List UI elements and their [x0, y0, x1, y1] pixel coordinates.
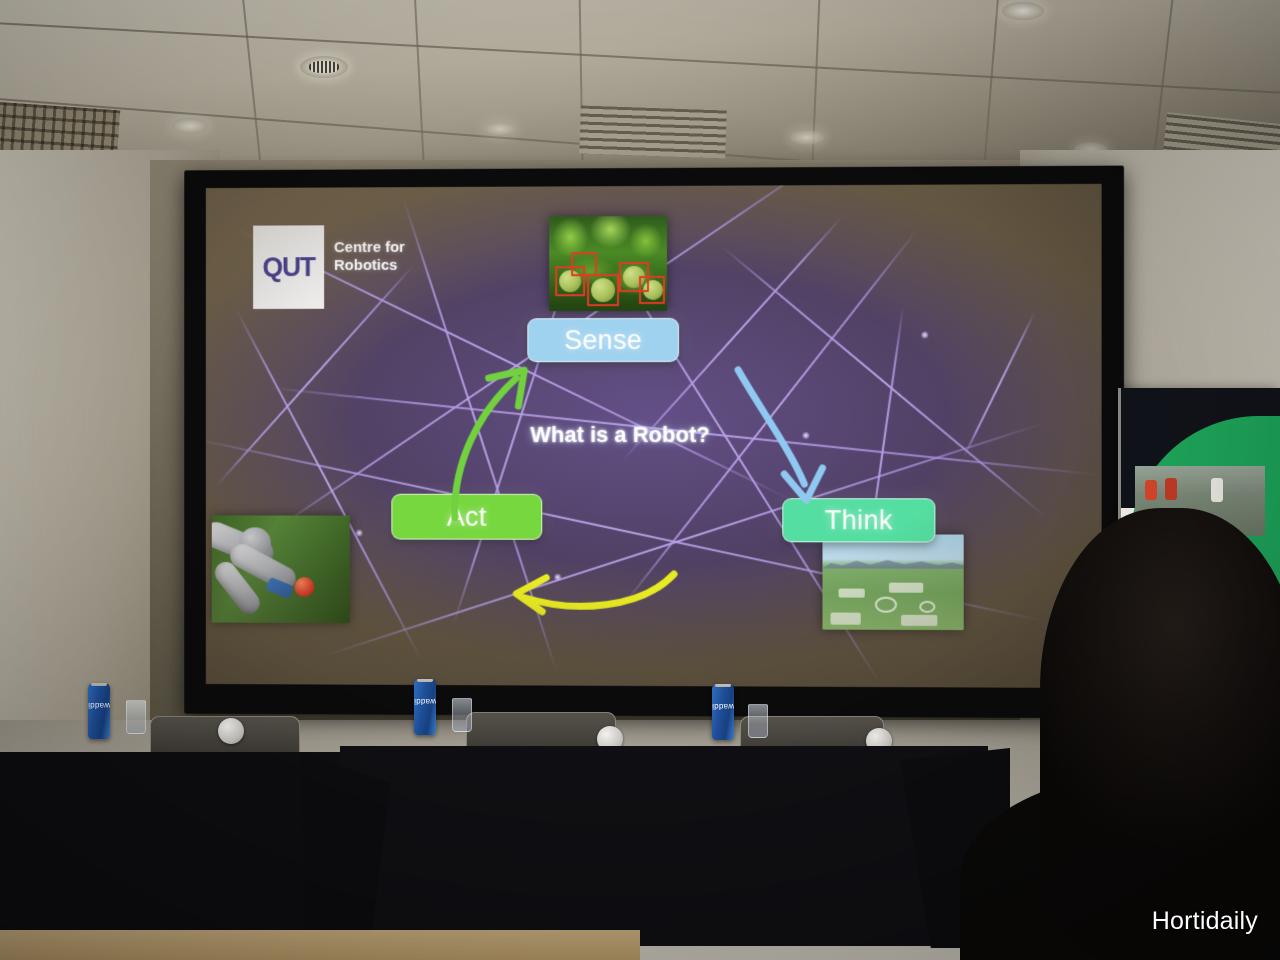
bottle-label: waddi: [712, 702, 734, 711]
table-surface: [0, 930, 640, 960]
arrow-sense-to-think: [732, 364, 853, 525]
qut-logo-subtitle: Centre for Robotics: [334, 225, 405, 274]
downlight-far-right: [790, 130, 824, 145]
qut-logo-tile: QUT: [253, 225, 324, 309]
presentation-slide: QUT Centre for Robotics: [206, 184, 1102, 688]
water-bottle: waddi: [414, 679, 436, 735]
drinking-glass: [748, 704, 768, 738]
photo-robot-harvester: [212, 515, 350, 623]
arrow-act-to-sense: [439, 364, 548, 524]
bottle-label: waddi: [88, 701, 110, 710]
detection-box: [587, 274, 619, 306]
photo-aerial-field: [822, 534, 963, 630]
projection-screen-surface: QUT Centre for Robotics: [206, 184, 1102, 688]
watermark: Hortidaily: [1152, 907, 1258, 936]
bottle-label: waddi: [414, 697, 436, 706]
downlight-lower-left: [172, 118, 208, 134]
drinking-glass: [452, 698, 472, 732]
qut-logo-line2: Robotics: [334, 257, 405, 275]
person-head: [1040, 508, 1280, 960]
table-drape-left: [0, 752, 352, 942]
chair-headrest: [218, 718, 244, 744]
qut-logo-mark: QUT: [263, 254, 315, 281]
detection-box: [639, 276, 665, 304]
ceiling-vent-center: [579, 105, 727, 158]
downlight-lower-right: [484, 122, 516, 136]
slide-question: What is a Robot?: [530, 422, 709, 448]
detection-box: [571, 252, 597, 276]
projection-screen: QUT Centre for Robotics: [184, 166, 1124, 719]
downlight-upper-right: [1002, 2, 1044, 20]
arrow-think-to-act: [502, 564, 682, 624]
node-sense[interactable]: Sense: [527, 318, 679, 362]
tomato: [295, 577, 315, 597]
water-bottle: waddi: [712, 684, 734, 740]
photo-crop-detection: [549, 216, 667, 311]
qut-logo: QUT Centre for Robotics: [253, 225, 405, 309]
conference-room-photo: QUT Centre for Robotics: [0, 0, 1280, 960]
water-bottle: waddi: [88, 683, 110, 739]
table-drape-right: [340, 746, 988, 946]
drinking-glass: [126, 700, 146, 734]
qut-logo-line1: Centre for: [334, 239, 405, 257]
downlight-center: [300, 56, 348, 78]
